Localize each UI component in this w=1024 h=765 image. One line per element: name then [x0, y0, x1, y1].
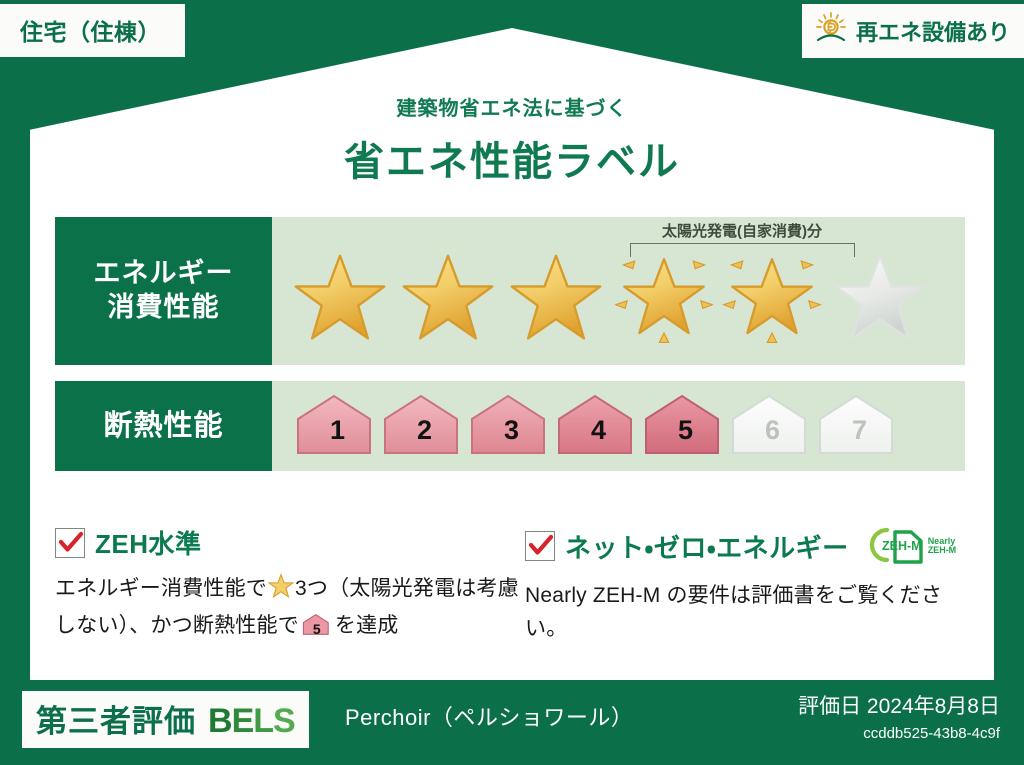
inline-house-number: 5	[302, 619, 332, 641]
svg-text:ZEH-M: ZEH-M	[882, 539, 922, 553]
criteria-zeh-standard: ZEH水準 エネルギー消費性能で 3つ（太陽光発電は考慮しない）、かつ断熱性能で…	[55, 524, 525, 647]
star-2	[394, 244, 502, 352]
star-4-solar	[610, 244, 718, 352]
net-zero-energy-description: Nearly ZEH-M の要件は評価書をご覧ください。	[525, 580, 970, 645]
star-5-solar	[718, 244, 826, 352]
evaluation-id: ccddb525-43b8-4c9f	[798, 725, 1000, 742]
criteria-nze-header: ネット・ゼロ・エネルギー ZEH-M Nearly ZEH-M	[525, 524, 970, 568]
renewable-energy-badge: 再エネ設備あり	[802, 4, 1024, 58]
subtitle: 建築物省エネ法に基づく	[0, 92, 1024, 121]
zeh-standard-description: エネルギー消費性能で 3つ（太陽光発電は考慮しない）、かつ断熱性能で 5を達成	[55, 573, 525, 647]
insulation-level-1-number: 1	[294, 415, 381, 446]
zeh-m-logo: ZEH-M Nearly ZEH-M	[865, 524, 957, 568]
insulation-performance-field: 1 2	[272, 381, 965, 471]
net-zero-energy-title: ネット・ゼロ・エネルギー	[565, 528, 849, 565]
criteria-zeh-header: ZEH水準	[55, 524, 525, 561]
zeh-desc-part1: エネルギー消費性能で	[55, 577, 267, 600]
insulation-level-6: 6	[729, 393, 816, 459]
bels-jp-label: 第三者評価	[36, 696, 196, 741]
bels-en-label: BELS	[208, 702, 295, 741]
energy-performance-label: エネルギー 消費性能	[55, 217, 272, 365]
insulation-level-scale: 1 2	[272, 381, 965, 471]
bels-logo-box: 第三者評価 BELS	[22, 691, 309, 748]
energy-performance-field: 太陽光発電(自家消費)分	[272, 217, 965, 365]
solar-sun-icon	[814, 11, 848, 50]
insulation-level-7: 7	[816, 393, 903, 459]
star-1	[286, 244, 394, 352]
star-3	[502, 244, 610, 352]
renewable-energy-label: 再エネ設備あり	[856, 15, 1010, 47]
insulation-performance-row: 断熱性能 1	[55, 381, 965, 471]
insulation-performance-label: 断熱性能	[55, 381, 272, 471]
bels-letter-s: S	[273, 702, 295, 740]
footer-bar: 第三者評価 BELS Perchoir（ペルショワール） 評価日 2024年8月…	[0, 680, 1024, 765]
building-type-badge: 住宅（住棟）	[0, 4, 185, 57]
energy-label-line1: エネルギー	[94, 257, 234, 291]
insulation-level-5-number: 5	[642, 415, 729, 446]
bels-letter-b: B	[208, 702, 232, 740]
star-6-empty	[826, 244, 934, 352]
zeh-m-logo-sub2: ZEH-M	[928, 546, 957, 555]
label-root: 住宅（住棟） 再エネ設備あり 建築物省エネ法に基づく	[0, 0, 1024, 765]
inline-star-icon	[268, 573, 294, 610]
star-rating	[272, 217, 965, 365]
insulation-level-4-number: 4	[555, 415, 642, 446]
inline-house-icon: 5	[302, 613, 332, 648]
evaluation-info: 評価日 2024年8月8日 ccddb525-43b8-4c9f	[798, 690, 1000, 742]
building-name: Perchoir（ペルショワール）	[345, 700, 633, 732]
net-zero-energy-checkbox[interactable]	[525, 531, 555, 561]
page-title: 省エネ性能ラベル	[0, 129, 1024, 187]
evaluation-date: 評価日 2024年8月8日	[798, 690, 1000, 720]
insulation-level-1: 1	[294, 393, 381, 459]
insulation-level-3-number: 3	[468, 415, 555, 446]
insulation-level-5-achieved: 5	[642, 393, 729, 459]
zeh-standard-title: ZEH水準	[95, 524, 202, 561]
energy-label-line2: 消費性能	[108, 291, 220, 325]
energy-performance-row: エネルギー 消費性能 太陽光発電(自家消費)分	[55, 217, 965, 365]
zeh-desc-part3: を達成	[335, 614, 399, 637]
bels-letter-l: L	[253, 702, 273, 740]
title-block: 建築物省エネ法に基づく 省エネ性能ラベル	[0, 92, 1024, 187]
insulation-level-7-number: 7	[816, 415, 903, 446]
building-type-label: 住宅（住棟）	[20, 19, 161, 45]
insulation-level-2-number: 2	[381, 415, 468, 446]
insulation-level-3: 3	[468, 393, 555, 459]
insulation-level-4: 4	[555, 393, 642, 459]
insulation-label-line1: 断熱性能	[103, 408, 223, 444]
criteria-section: ZEH水準 エネルギー消費性能で 3つ（太陽光発電は考慮しない）、かつ断熱性能で…	[55, 524, 970, 647]
criteria-net-zero-energy: ネット・ゼロ・エネルギー ZEH-M Nearly ZEH-M Nearly Z…	[525, 524, 970, 647]
insulation-level-2: 2	[381, 393, 468, 459]
insulation-level-6-number: 6	[729, 415, 816, 446]
bels-letter-e: E	[232, 702, 254, 740]
zeh-standard-checkbox[interactable]	[55, 528, 85, 558]
